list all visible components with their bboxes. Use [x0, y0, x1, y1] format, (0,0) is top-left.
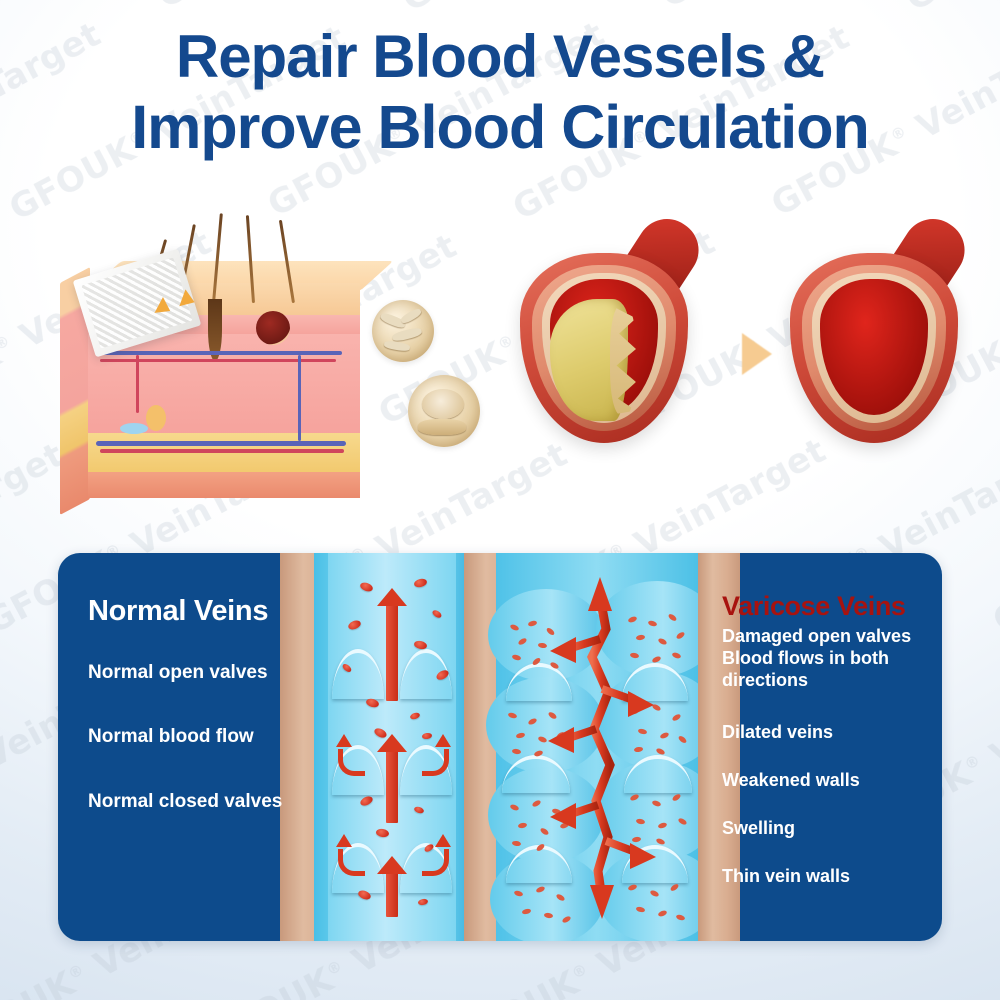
arrow-right-icon — [742, 333, 772, 375]
normal-veins-item: Normal open valves — [88, 662, 328, 684]
varicose-veins-item: Swelling — [722, 818, 942, 840]
varicose-veins-item: Dilated veins — [722, 722, 942, 744]
mole — [256, 311, 290, 345]
dermis-layer — [88, 334, 360, 434]
vein-comparison-panel: Normal Veins Normal open valves Normal b… — [58, 553, 942, 941]
normal-veins-item: Normal closed valves — [88, 791, 328, 813]
varicose-veins-item: Damaged open valves — [722, 626, 942, 648]
clogged-artery — [520, 225, 730, 455]
ginseng-slice — [418, 419, 466, 435]
capillary-branch — [298, 355, 301, 441]
capillary-branch — [136, 355, 139, 413]
watermark-text: GFOUK® VeinTarget — [151, 0, 501, 17]
varicose-veins-text-column: Varicose Veins Damaged open valves Blood… — [722, 591, 942, 888]
herb-chip — [399, 307, 422, 325]
capillary-artery — [100, 449, 344, 453]
page-title: Repair Blood Vessels & Improve Blood Cir… — [0, 22, 1000, 164]
herb-slices-bubble — [372, 300, 434, 362]
subcutaneous-fat-layer — [88, 433, 360, 473]
varicose-veins-heading: Varicose Veins — [722, 591, 942, 622]
varicose-veins-item: Thin vein walls — [722, 866, 942, 888]
normal-veins-text-column: Normal Veins Normal open valves Normal b… — [88, 595, 328, 813]
top-illustration-band — [0, 195, 1000, 545]
infographic-page: GFOUK® VeinTargetGFOUK® VeinTargetGFOUK®… — [0, 0, 1000, 1000]
watermark-text: GFOUK® VeinTarget — [396, 0, 746, 20]
ginseng-slice-bubble — [408, 375, 480, 447]
blood-flow-arrow-icon — [386, 873, 398, 917]
title-line-1: Repair Blood Vessels & — [0, 22, 1000, 92]
normal-veins-item: Normal blood flow — [88, 726, 328, 748]
herb-chip — [384, 340, 411, 352]
varicose-veins-item: Blood flows in both directions — [722, 648, 942, 692]
watermark-text: GFOUK® VeinTarget — [899, 0, 1000, 20]
sweat-gland — [146, 405, 166, 431]
skin-cross-section-diagram — [60, 255, 390, 495]
nerve-ending — [120, 423, 148, 434]
capillary-vein — [96, 351, 342, 355]
title-line-2: Improve Blood Circulation — [0, 92, 1000, 163]
normal-vein-diagram — [314, 553, 470, 941]
muscle-layer — [88, 472, 360, 498]
herb-chip — [391, 327, 422, 343]
blood-flow-arrow-icon — [386, 751, 398, 823]
artery-outer-wall — [790, 253, 958, 443]
varicose-vein-diagram — [496, 553, 706, 941]
watermark-text: GFOUK® VeinTarget — [0, 0, 242, 20]
capillary-vein — [96, 441, 346, 446]
watermark-text: GFOUK® VeinTarget — [654, 0, 1000, 16]
clear-artery — [790, 225, 990, 455]
reflux-blood-flow-icon — [496, 553, 706, 941]
ginseng-slice — [422, 389, 464, 419]
artery-outer-wall — [520, 253, 688, 443]
varicose-veins-item: Weakened walls — [722, 770, 942, 792]
normal-veins-heading: Normal Veins — [88, 595, 328, 628]
blood-flow-arrow-icon — [386, 605, 398, 701]
